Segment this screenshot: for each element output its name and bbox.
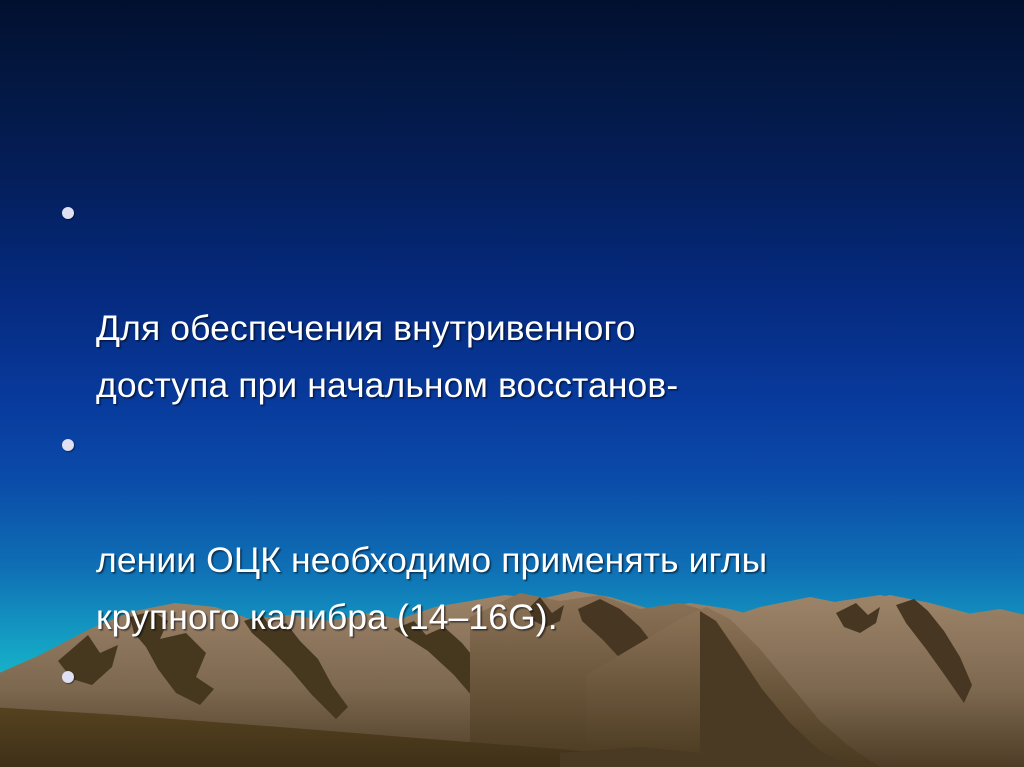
list-item-text: лении ОЦК необходимо применять иглы круп… — [96, 540, 767, 637]
list-item: Если периферический венозный доступ затр… — [56, 650, 986, 767]
bullet-dot-icon — [62, 671, 74, 683]
slide-content: Для обеспечения внутривенного доступа пр… — [0, 0, 1024, 767]
bullet-dot-icon — [62, 439, 74, 451]
bullet-dot-icon — [62, 207, 74, 219]
bullet-list: Для обеспечения внутривенного доступа пр… — [56, 186, 986, 767]
list-item: лении ОЦК необходимо применять иглы круп… — [56, 418, 986, 646]
list-item: Для обеспечения внутривенного доступа пр… — [56, 186, 986, 414]
presentation-slide: Для обеспечения внутривенного доступа пр… — [0, 0, 1024, 767]
list-item-text: Для обеспечения внутривенного доступа пр… — [96, 308, 678, 405]
